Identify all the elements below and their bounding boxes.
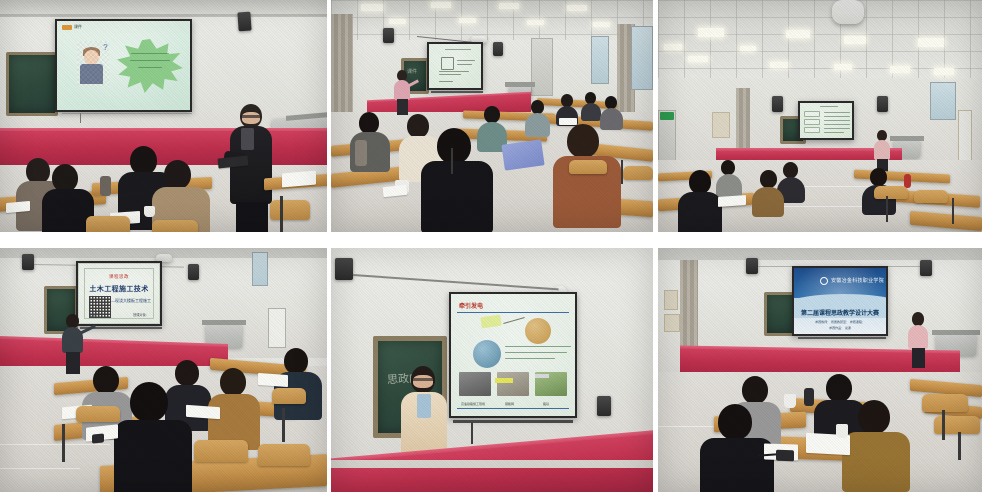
wall-speaker-icon — [877, 96, 888, 112]
institution-logo-icon — [820, 277, 828, 285]
slide-caption-1: 高速铁路施工现场 — [461, 402, 485, 406]
phone — [776, 450, 794, 462]
slide-image-2 — [497, 372, 529, 396]
slide-logo — [62, 25, 72, 30]
blackboard — [6, 52, 58, 116]
projection-screen: 安徽冶金科技职业学院 第二届课程思政教学设计大赛 参赛教师： 所属教研室： 参赛… — [792, 266, 888, 336]
photo-panel-5[interactable]: 思政内容 牵引发电 — [331, 248, 653, 492]
slide-title: 第二届课程思政教学设计大赛 — [794, 308, 886, 317]
wall-speaker-icon — [22, 254, 34, 270]
photo-panel-3[interactable] — [658, 0, 982, 232]
projection-screen — [798, 101, 854, 140]
wall-speaker-icon — [746, 258, 758, 274]
photo-panel-1[interactable]: 课件 ? — [0, 0, 327, 232]
slide-panel-1: 课件 ? — [57, 21, 190, 110]
slide-panel-2 — [429, 44, 481, 88]
slide-subtitle: 课程思政 — [79, 274, 159, 280]
slide-panel-4: 课程思政 土木工程施工技术 ——现浇大楼板工程施工 主讲人： 授课对象： — [78, 263, 160, 324]
slide-meta-1: 参赛教师： 所属教研室： 参赛课程： — [794, 320, 886, 324]
wall-speaker-icon — [335, 258, 353, 280]
wall-speaker-icon — [597, 396, 611, 416]
stage-skirt — [0, 131, 327, 168]
wall-speaker-icon — [493, 42, 503, 56]
wall-speaker-icon — [772, 96, 783, 112]
paper-cup — [836, 424, 848, 438]
slide-caption-3: 路基 — [543, 402, 549, 406]
photo-panel-2[interactable]: 课件 — [331, 0, 653, 232]
photo-panel-6[interactable]: 安徽冶金科技职业学院 第二届课程思政教学设计大赛 参赛教师： 所属教研室： 参赛… — [658, 248, 982, 492]
slide-caption-2: 钢筋网 — [505, 402, 514, 406]
wall-speaker-icon — [188, 264, 199, 280]
wall-speaker-icon — [237, 12, 251, 32]
slide-institution: 安徽冶金科技职业学院 — [831, 277, 884, 284]
exit-sign-icon — [660, 112, 674, 120]
slide-logo-label: 课件 — [74, 24, 82, 30]
projection-screen — [427, 42, 483, 90]
wall-speaker-icon — [383, 28, 394, 43]
slide-heading: 牵引发电 — [459, 301, 483, 310]
wall-speaker-icon — [920, 260, 932, 276]
slide-title: 土木工程施工技术 — [79, 284, 159, 294]
slide-panel-6: 安徽冶金科技职业学院 第二届课程思政教学设计大赛 参赛教师： 所属教研室： 参赛… — [794, 268, 886, 334]
slide-starburst — [117, 39, 183, 93]
slide-panel-3 — [800, 103, 852, 138]
slide-panel-5: 牵引发电 — [451, 294, 575, 416]
projection-screen: 课程思政 土木工程施工技术 ——现浇大楼板工程施工 主讲人： 授课对象： — [76, 261, 162, 326]
slide-footer-right: 授课对象： — [133, 312, 149, 317]
photo-collage: 课件 ? — [0, 0, 982, 492]
photo-panel-4[interactable]: 课程思政 土木工程施工技术 ——现浇大楼板工程施工 主讲人： 授课对象： — [0, 248, 327, 492]
slide-image-1 — [459, 372, 491, 396]
blue-binder — [501, 139, 544, 170]
ceiling-projector — [832, 0, 864, 24]
projection-screen: 课件 ? — [55, 19, 192, 112]
projection-screen: 牵引发电 — [449, 292, 577, 418]
wall-notice — [712, 112, 730, 138]
slide-meta-2: 参赛作品： 说课 — [794, 326, 886, 330]
slide-secondary: ——现浇大楼板工程施工 — [107, 298, 151, 304]
presenter-panel-1 — [224, 104, 276, 232]
slide-footer-left: 主讲人： — [89, 312, 102, 317]
paper-cup — [784, 394, 796, 408]
